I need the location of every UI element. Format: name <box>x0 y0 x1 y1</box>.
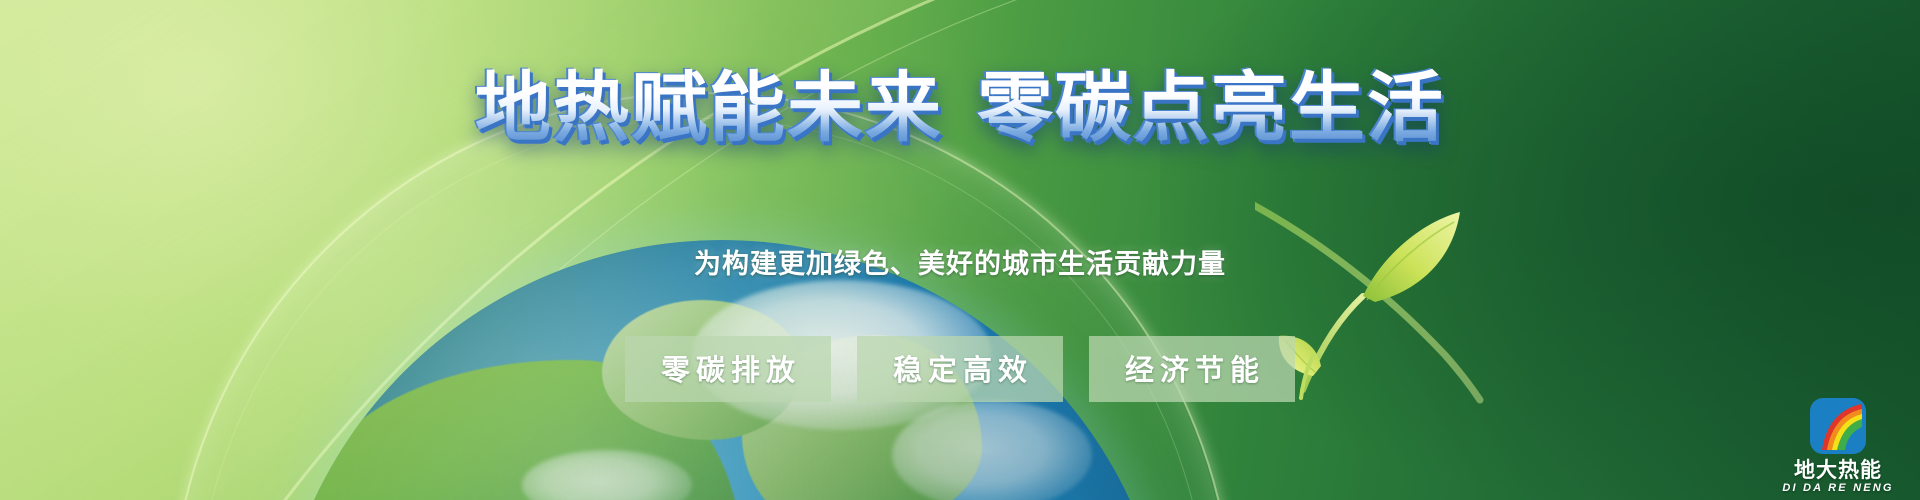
logo-name-en: DI DA RE NENG <box>1780 482 1896 494</box>
badge-stable-efficient[interactable]: 稳定高效 <box>857 336 1063 402</box>
promo-banner: 地热赋能未来零碳点亮生活 为构建更加绿色、美好的城市生活贡献力量 零碳排放 稳定… <box>0 0 1920 500</box>
glass-sphere-icon <box>170 92 1230 500</box>
sphere-rim-highlight <box>170 92 1234 500</box>
page-subtitle: 为构建更加绿色、美好的城市生活贡献力量 <box>0 242 1920 281</box>
sphere-inner-rim <box>196 118 1208 500</box>
feature-badge-list: 零碳排放 稳定高效 经济节能 <box>0 336 1920 402</box>
logo-name-cn: 地大热能 <box>1780 459 1896 481</box>
rainbow-swoosh-icon <box>1808 396 1868 456</box>
page-title: 地热赋能未来零碳点亮生活 <box>0 46 1920 156</box>
badge-economic-saving[interactable]: 经济节能 <box>1089 336 1295 402</box>
company-logo[interactable]: 地大热能 DI DA RE NENG <box>1780 396 1896 494</box>
badge-zero-carbon[interactable]: 零碳排放 <box>625 336 831 402</box>
headline-part-2: 零碳点亮生活 <box>977 63 1445 152</box>
headline-part-1: 地热赋能未来 <box>475 63 943 152</box>
